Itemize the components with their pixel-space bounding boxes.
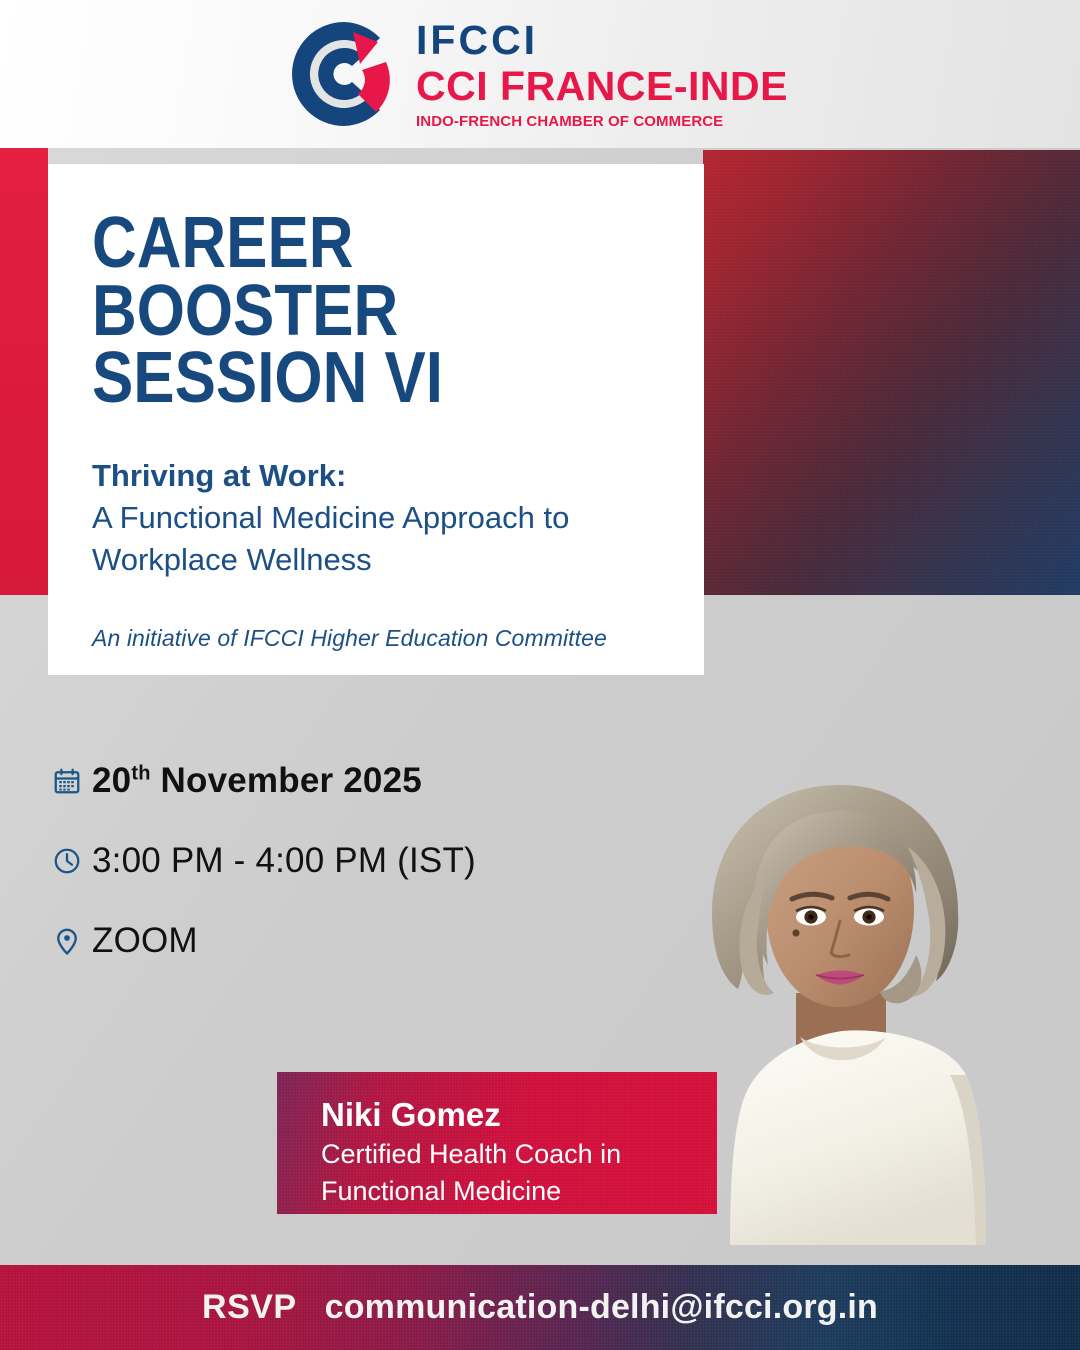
speaker-name: Niki Gomez xyxy=(321,1094,717,1135)
speaker-role-line-1: Certified Health Coach in xyxy=(321,1137,717,1172)
calendar-icon xyxy=(52,766,92,796)
subtitle-bold: Thriving at Work: xyxy=(92,455,704,497)
title-line-1: CAREER BOOSTER xyxy=(92,210,618,345)
brand-text: IFCCI CCI FRANCE-INDE INDO-FRENCH CHAMBE… xyxy=(416,20,788,129)
title-line-2: SESSION VI xyxy=(92,345,618,413)
date-ordinal: th xyxy=(131,762,150,784)
session-subtitle: Thriving at Work: A Functional Medicine … xyxy=(92,455,704,581)
location-pin-icon xyxy=(52,926,92,956)
ifcci-logo-mark-icon xyxy=(292,18,396,130)
date-rest: November 2025 xyxy=(151,761,422,800)
detail-location: ZOOM xyxy=(92,921,198,961)
subtitle-line-3: Workplace Wellness xyxy=(92,539,704,581)
clock-icon xyxy=(52,846,92,876)
speaker-role-line-2: Functional Medicine xyxy=(321,1174,717,1209)
detail-row-date: 20th November 2025 xyxy=(52,752,476,810)
detail-row-location: ZOOM xyxy=(52,912,476,970)
rsvp-footer: RSVP communication-delhi@ifcci.org.in xyxy=(0,1265,1080,1350)
event-poster: IFCCI CCI FRANCE-INDE INDO-FRENCH CHAMBE… xyxy=(0,0,1080,1350)
subtitle-line-2: A Functional Medicine Approach to xyxy=(92,497,704,539)
initiative-note: An initiative of IFCCI Higher Education … xyxy=(92,625,704,652)
decorative-gradient-block xyxy=(703,150,1080,595)
rsvp-email[interactable]: communication-delhi@ifcci.org.in xyxy=(325,1288,878,1327)
page-title: CAREER BOOSTER SESSION VI xyxy=(92,210,618,413)
date-day: 20 xyxy=(92,761,131,800)
detail-row-time: 3:00 PM - 4:00 PM (IST) xyxy=(52,832,476,890)
brand-line-1: IFCCI xyxy=(416,20,788,61)
event-details: 20th November 2025 3:00 PM - 4:00 PM (IS… xyxy=(52,752,476,992)
detail-date: 20th November 2025 xyxy=(92,761,422,801)
poster-header: IFCCI CCI FRANCE-INDE INDO-FRENCH CHAMBE… xyxy=(0,0,1080,148)
brand-logo: IFCCI CCI FRANCE-INDE INDO-FRENCH CHAMBE… xyxy=(292,18,788,130)
decorative-red-strip xyxy=(0,148,48,595)
brand-tagline: INDO-FRENCH CHAMBER OF COMMERCE xyxy=(416,114,788,129)
detail-time: 3:00 PM - 4:00 PM (IST) xyxy=(92,841,476,881)
title-card: CAREER BOOSTER SESSION VI Thriving at Wo… xyxy=(48,164,704,675)
rsvp-label: RSVP xyxy=(202,1288,297,1327)
brand-line-2: CCI FRANCE-INDE xyxy=(416,66,788,107)
speaker-banner: Niki Gomez Certified Health Coach in Fun… xyxy=(277,1072,717,1214)
